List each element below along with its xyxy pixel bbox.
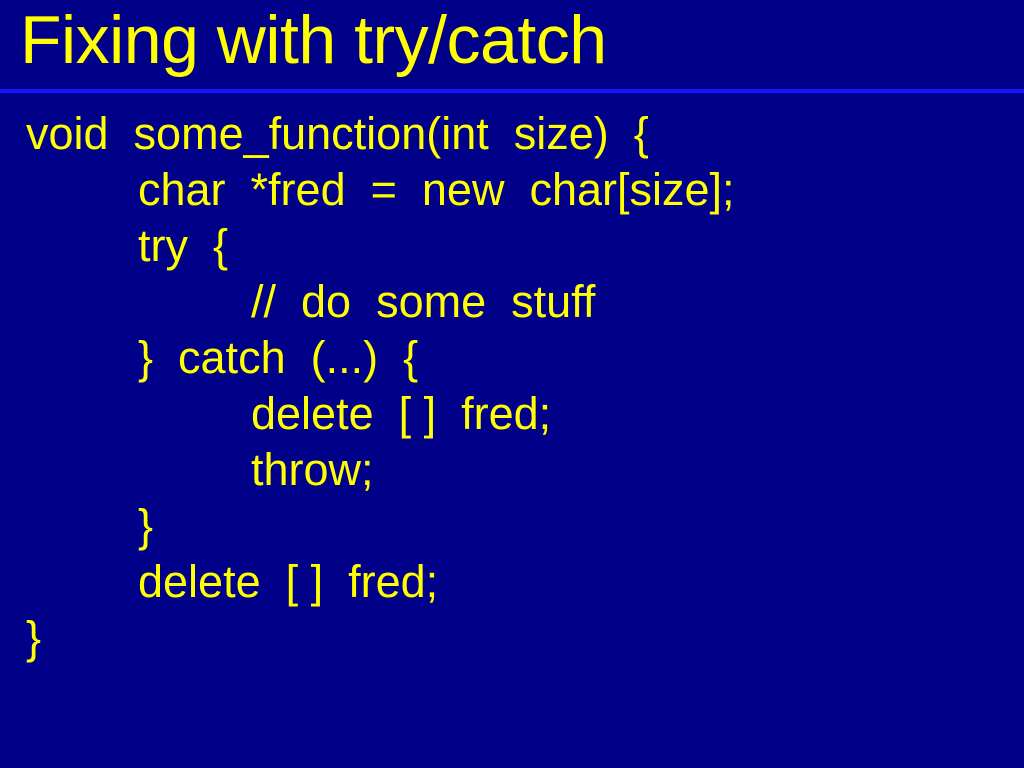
code-line: delete [ ] fred; xyxy=(0,554,1024,610)
slide: Fixing with try/catch void some_function… xyxy=(0,0,1024,768)
code-line: } catch (...) { xyxy=(0,330,1024,386)
code-line: } xyxy=(0,498,1024,554)
code-line: void some_function(int size) { xyxy=(0,106,1024,162)
slide-title: Fixing with try/catch xyxy=(20,6,607,74)
code-line: } xyxy=(0,610,1024,666)
title-divider xyxy=(0,89,1024,93)
code-line: char *fred = new char[size]; xyxy=(0,162,1024,218)
code-block: void some_function(int size) { char *fre… xyxy=(0,106,1024,666)
code-line: throw; xyxy=(0,442,1024,498)
code-line: // do some stuff xyxy=(0,274,1024,330)
code-line: delete [ ] fred; xyxy=(0,386,1024,442)
code-line: try { xyxy=(0,218,1024,274)
